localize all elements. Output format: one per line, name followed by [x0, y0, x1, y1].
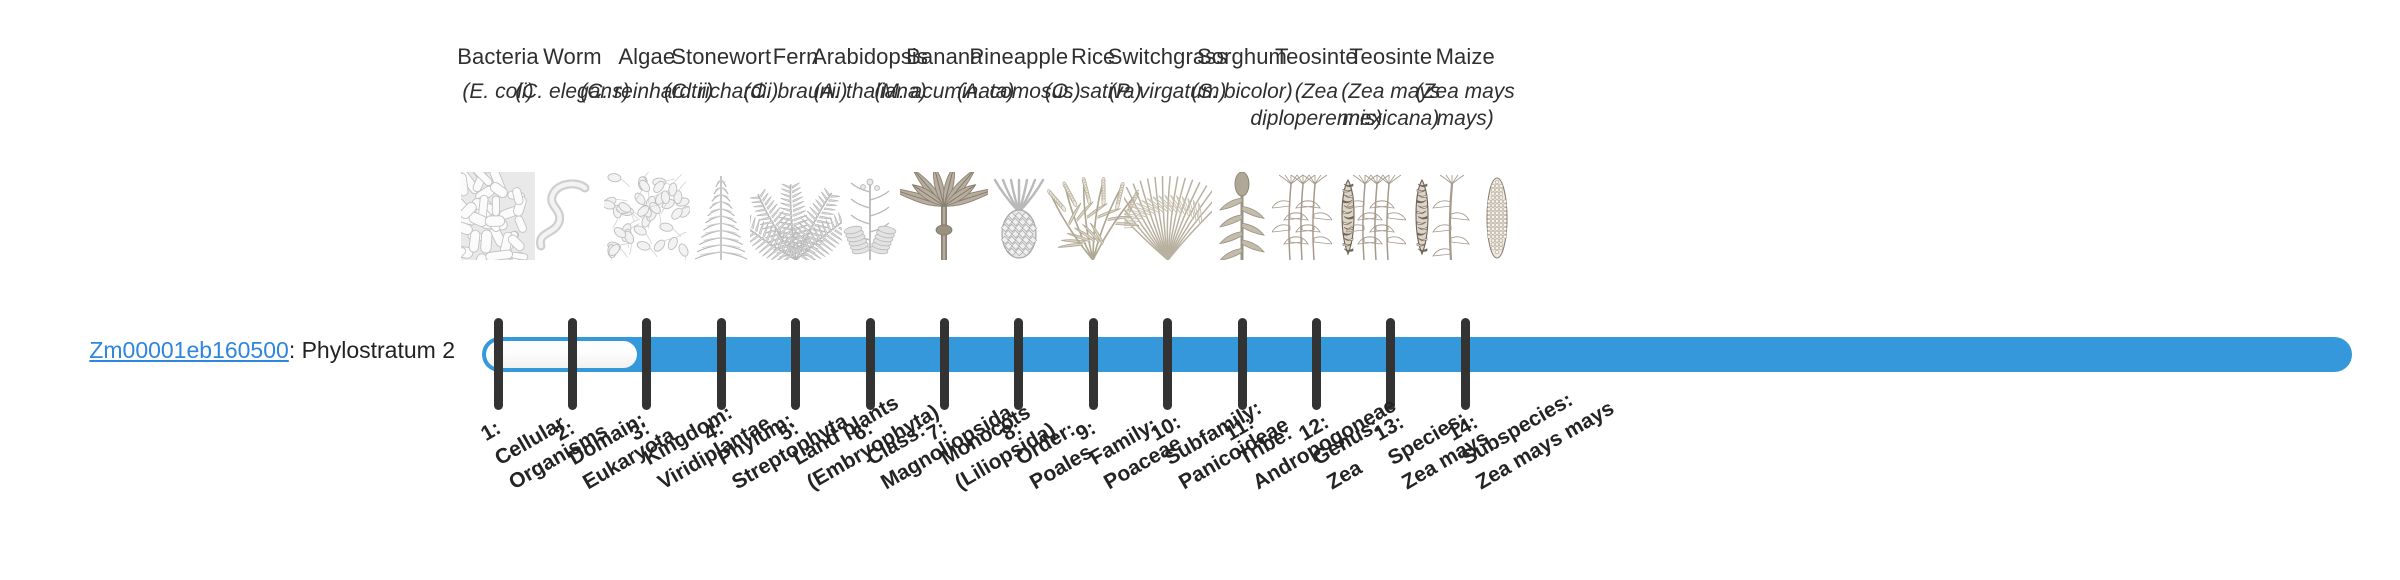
phylostratum-tick-9[interactable]: [1089, 318, 1098, 410]
maize-icon: [1390, 168, 1540, 260]
algae-icon: [572, 168, 722, 260]
teosinte-diploperennis-icon: [1241, 168, 1391, 260]
phylostratum-chart: Zm00001eb160500: Phylostratum 2 Bacteria…: [0, 0, 2400, 580]
gene-id-link[interactable]: Zm00001eb160500: [89, 337, 289, 363]
phylostratum-bar-unfilled: [486, 341, 637, 368]
gene-label-separator: :: [289, 337, 302, 363]
species-column-maize-13: Maize(Zea mays mays): [1390, 42, 1540, 134]
phylostratum-tick-1[interactable]: [494, 318, 503, 410]
sorghum-icon: [1167, 168, 1317, 260]
rice-icon: [1018, 168, 1168, 260]
pineapple-icon: [944, 168, 1094, 260]
species-scientific-name: (Zea mays mays): [1390, 78, 1540, 134]
worm-icon: [497, 168, 647, 260]
arabidopsis-icon: [795, 168, 945, 260]
phylostratum-tick-10[interactable]: [1163, 318, 1172, 410]
banana-icon: [869, 168, 1019, 260]
stonewort-icon: [646, 168, 796, 260]
gene-label: Zm00001eb160500: Phylostratum 2: [0, 335, 455, 365]
species-common-name: Maize: [1390, 42, 1540, 72]
phylostratum-text: Phylostratum 2: [302, 337, 455, 363]
switchgrass-icon: [1093, 168, 1243, 260]
teosinte-mexicana-icon: [1316, 168, 1466, 260]
bacteria-icon: [423, 168, 573, 260]
phylostratum-bar-track[interactable]: [482, 337, 2352, 372]
fern-icon: [721, 168, 871, 260]
